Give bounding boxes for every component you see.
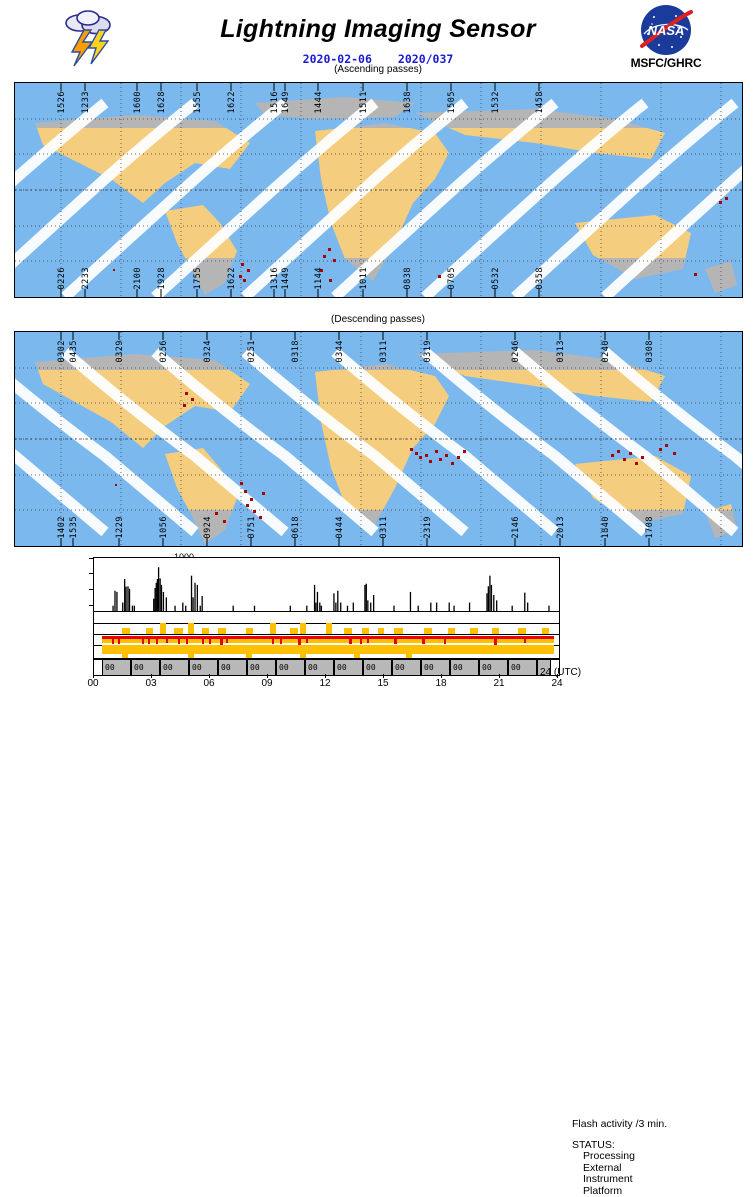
orbit-label-asc-top-7: 1649 — [281, 91, 291, 113]
orbit-label-asc-bot-4: 1755 — [193, 267, 203, 289]
platform-cell-1: 00 — [131, 660, 160, 675]
orbit-label-desc-bot-13: 1708 — [645, 516, 655, 538]
external-status-graphic — [94, 623, 559, 634]
platform-cell-14: 00 — [508, 660, 537, 675]
legend-item-external: External — [572, 1163, 752, 1175]
orbit-label-asc-top-10: 1638 — [403, 91, 413, 113]
orbit-label-asc-top-5: 1622 — [227, 91, 237, 113]
platform-cell-9: 00 — [363, 660, 392, 675]
orbit-label-asc-top-3: 1628 — [157, 91, 167, 113]
orbit-label-asc-top-11: 1505 — [447, 91, 457, 113]
flash-activity-panel: 1000 100 10 1 — [0, 550, 756, 680]
nasa-center-label: MSFC/GHRC — [612, 56, 720, 70]
legend-status-header: STATUS: — [572, 1139, 752, 1151]
legend-flash-activity: Flash activity /3 min. — [572, 1118, 752, 1130]
platform-cell-10: 00 — [392, 660, 421, 675]
legend-item-processing: Processing — [572, 1151, 752, 1163]
orbit-label-asc-bot-2: 2100 — [133, 267, 143, 289]
orbit-label-desc-top-2: 0329 — [115, 340, 125, 362]
orbit-label-desc-bot-5: 0751 — [247, 516, 257, 538]
platform-cell-4: 00 — [218, 660, 247, 675]
platform-cell-3: 00 — [189, 660, 218, 675]
orbit-label-desc-top-4: 0324 — [203, 340, 213, 362]
orbit-label-asc-top-1: 1233 — [81, 91, 91, 113]
ascending-map-graphic — [15, 83, 742, 297]
platform-status-graphic — [94, 645, 559, 658]
orbit-label-desc-bot-0: 1402 — [57, 516, 67, 538]
orbit-label-desc-bot-1: 1535 — [69, 516, 79, 538]
utc-axis-label: 24 (UTC) — [540, 667, 581, 678]
orbit-label-desc-top-5: 0251 — [247, 340, 257, 362]
platform-cell-12: 00 — [450, 660, 479, 675]
flash-activity-plot[interactable] — [93, 557, 560, 612]
descending-passes-map[interactable]: 0302 0435 0329 0256 0324 0251 0318 0344 … — [14, 331, 743, 547]
orbit-label-desc-top-1: 0435 — [69, 340, 79, 362]
orbit-label-desc-bot-2: 1229 — [115, 516, 125, 538]
orbit-label-asc-bot-8: 1144 — [314, 267, 324, 289]
orbit-label-asc-bot-13: 0358 — [535, 267, 545, 289]
orbit-label-asc-top-13: 1458 — [535, 91, 545, 113]
orbit-label-desc-bot-4: 0924 — [203, 516, 213, 538]
orbit-label-desc-top-6: 0318 — [291, 340, 301, 362]
orbit-label-asc-bot-9: 1011 — [359, 267, 369, 289]
platform-cell-6: 00 — [276, 660, 305, 675]
status-bars[interactable] — [93, 611, 560, 659]
orbit-label-desc-top-12: 0240 — [601, 340, 611, 362]
instrument-status-graphic — [94, 634, 559, 645]
time-axis: 00 03 06 09 12 15 18 21 24 — [93, 674, 558, 692]
orbit-label-asc-bot-0: 0226 — [57, 267, 67, 289]
platform-cell-8: 00 — [334, 660, 363, 675]
orbit-label-desc-bot-7: 0444 — [335, 516, 345, 538]
orbit-label-desc-bot-8: 0311 — [379, 516, 389, 538]
orbit-label-asc-top-12: 1532 — [491, 91, 501, 113]
orbit-label-desc-top-11: 0313 — [556, 340, 566, 362]
orbit-label-desc-top-10: 0246 — [511, 340, 521, 362]
platform-cell-13: 00 — [479, 660, 508, 675]
orbit-label-asc-top-4: 1555 — [193, 91, 203, 113]
chart-legend: Flash activity /3 min. STATUS: Processin… — [572, 1118, 752, 1197]
platform-cell-11: 00 — [421, 660, 450, 675]
legend-item-platform: Platform — [572, 1186, 752, 1197]
orbit-label-desc-bot-11: 2013 — [556, 516, 566, 538]
platform-cell-0: 00 — [102, 660, 131, 675]
orbit-label-desc-bot-10: 2146 — [511, 516, 521, 538]
orbit-label-asc-top-0: 1526 — [57, 91, 67, 113]
orbit-label-desc-bot-6: 0618 — [291, 516, 301, 538]
orbit-label-asc-top-8: 1444 — [314, 91, 324, 113]
status-row-platform-strip — [94, 645, 559, 658]
platform-cell-2: 00 — [160, 660, 189, 675]
orbit-label-desc-top-7: 0344 — [335, 340, 345, 362]
orbit-label-asc-bot-3: 1928 — [157, 267, 167, 289]
orbit-label-desc-top-3: 0256 — [159, 340, 169, 362]
flash-activity-bars — [94, 558, 559, 611]
platform-cell-7: 00 — [305, 660, 334, 675]
orbit-label-asc-bot-6: 1316 — [270, 267, 280, 289]
orbit-label-asc-top-6: 1516 — [270, 91, 280, 113]
orbit-label-desc-bot-3: 1056 — [159, 516, 169, 538]
descending-caption: (Descending passes) — [0, 314, 756, 325]
orbit-label-asc-bot-12: 0532 — [491, 267, 501, 289]
platform-cell-5: 00 — [247, 660, 276, 675]
orbit-label-desc-top-9: 0319 — [423, 340, 433, 362]
orbit-label-asc-bot-5: 1622 — [227, 267, 237, 289]
orbit-label-asc-bot-10: 0838 — [403, 267, 413, 289]
orbit-label-desc-bot-9: 2319 — [423, 516, 433, 538]
nasa-meatball-logo: NASA — [628, 4, 704, 56]
orbit-label-asc-top-2: 1600 — [133, 91, 143, 113]
orbit-label-desc-top-13: 0308 — [645, 340, 655, 362]
orbit-label-asc-bot-1: 2233 — [81, 267, 91, 289]
orbit-label-desc-top-0: 0302 — [57, 340, 67, 362]
orbit-label-asc-top-9: 1511 — [359, 91, 369, 113]
orbit-label-asc-bot-7: 1449 — [281, 267, 291, 289]
descending-map-graphic — [15, 332, 742, 546]
orbit-label-desc-top-8: 0311 — [379, 340, 389, 362]
orbit-label-desc-bot-12: 1840 — [601, 516, 611, 538]
svg-text:NASA: NASA — [648, 23, 685, 38]
ascending-passes-map[interactable]: 1526 1233 1600 1628 1555 1622 1516 1649 … — [14, 82, 743, 298]
orbit-label-asc-bot-11: 0705 — [447, 267, 457, 289]
legend-item-instrument: Instrument — [572, 1174, 752, 1186]
page-header: Lightning Imaging Sensor 2020-02-062020/… — [0, 0, 756, 78]
